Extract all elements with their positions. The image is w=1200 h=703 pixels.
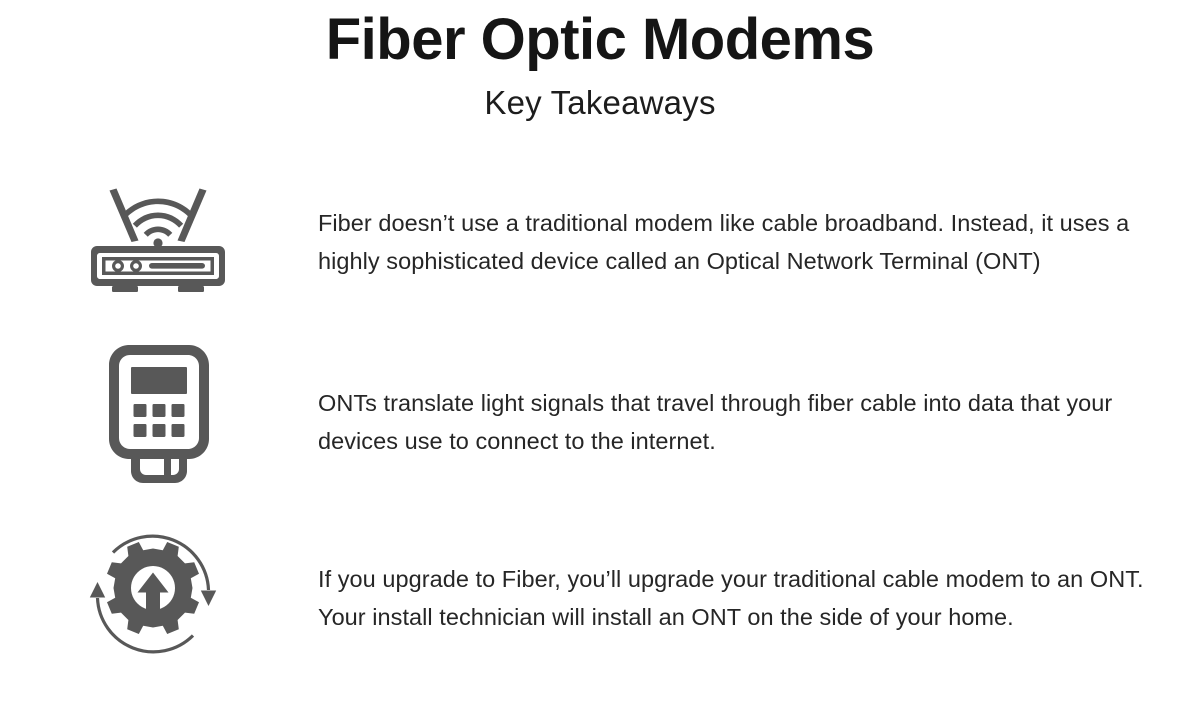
page-title: Fiber Optic Modems — [0, 0, 1200, 71]
takeaway-icon-cell — [0, 524, 312, 664]
network-terminal-device-icon — [107, 343, 211, 485]
takeaway-text-cell: Fiber doesn’t use a traditional modem li… — [318, 204, 1200, 280]
wifi-router-icon — [83, 182, 233, 294]
takeaway-text: If you upgrade to Fiber, you’ll upgrade … — [318, 560, 1146, 636]
page-subtitle: Key Takeaways — [0, 71, 1200, 121]
takeaway-icon-cell — [0, 343, 318, 485]
takeaway-text: ONTs translate light signals that travel… — [318, 384, 1146, 460]
slide-header: Fiber Optic Modems Key Takeaways — [0, 0, 1200, 121]
takeaways-list: Fiber doesn’t use a traditional modem li… — [0, 168, 1200, 678]
takeaway-text-cell: ONTs translate light signals that travel… — [318, 384, 1200, 460]
list-item: Fiber doesn’t use a traditional modem li… — [0, 168, 1200, 332]
takeaway-text-cell: If you upgrade to Fiber, you’ll upgrade … — [318, 560, 1200, 636]
takeaway-icon-cell — [0, 182, 317, 294]
takeaway-text: Fiber doesn’t use a traditional modem li… — [318, 204, 1146, 280]
list-item: If you upgrade to Fiber, you’ll upgrade … — [0, 508, 1200, 672]
gear-upgrade-cycle-icon — [83, 524, 223, 664]
list-item: ONTs translate light signals that travel… — [0, 338, 1200, 502]
slide-root: Fiber Optic Modems Key Takeaways — [0, 0, 1200, 703]
